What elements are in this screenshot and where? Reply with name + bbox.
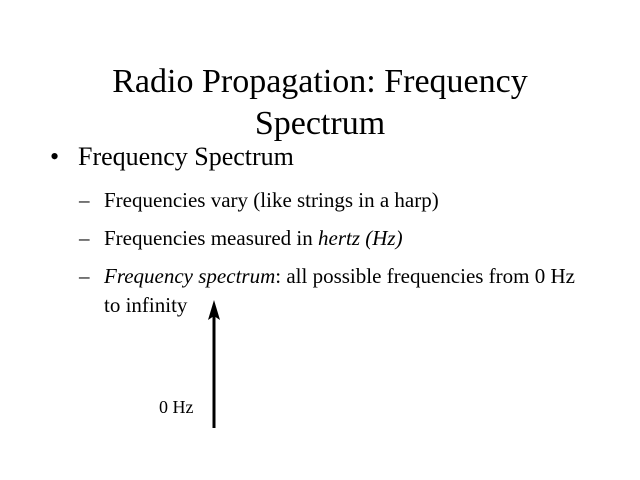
bullet-level2-label: Frequencies vary (like strings in a harp… [104,188,439,212]
bullet-level2: – Frequencies vary (like strings in a ha… [0,186,640,215]
bullet-dash-icon: – [79,224,90,253]
bullet-dot-icon: • [50,140,59,174]
bullet-level1: • Frequency Spectrum [0,140,640,174]
bullet-level1-label: Frequency Spectrum [78,142,294,171]
bullet-dash-icon: – [79,186,90,215]
text-run-italic: hertz (Hz) [318,226,403,250]
text-run: Frequencies vary (like strings in a harp… [104,188,439,212]
page-title: Radio Propagation: Frequency Spectrum [60,61,580,145]
text-run-italic: Frequency spectrum [104,264,275,288]
text-run: Frequencies measured in [104,226,318,250]
slide-body: • Frequency Spectrum – Frequencies vary … [0,140,640,329]
bullet-level2-label: Frequency spectrum: all possible frequen… [104,264,575,317]
slide-canvas: Radio Propagation: Frequency Spectrum • … [0,0,640,480]
bullet-level2-label: Frequencies measured in hertz (Hz) [104,226,403,250]
zero-hz-label: 0 Hz [159,396,194,418]
frequency-axis-arrow-icon [203,298,225,432]
bullet-level2: – Frequencies measured in hertz (Hz) [0,224,640,253]
bullet-dash-icon: – [79,262,90,291]
bullet-level2: – Frequency spectrum: all possible frequ… [0,262,640,320]
